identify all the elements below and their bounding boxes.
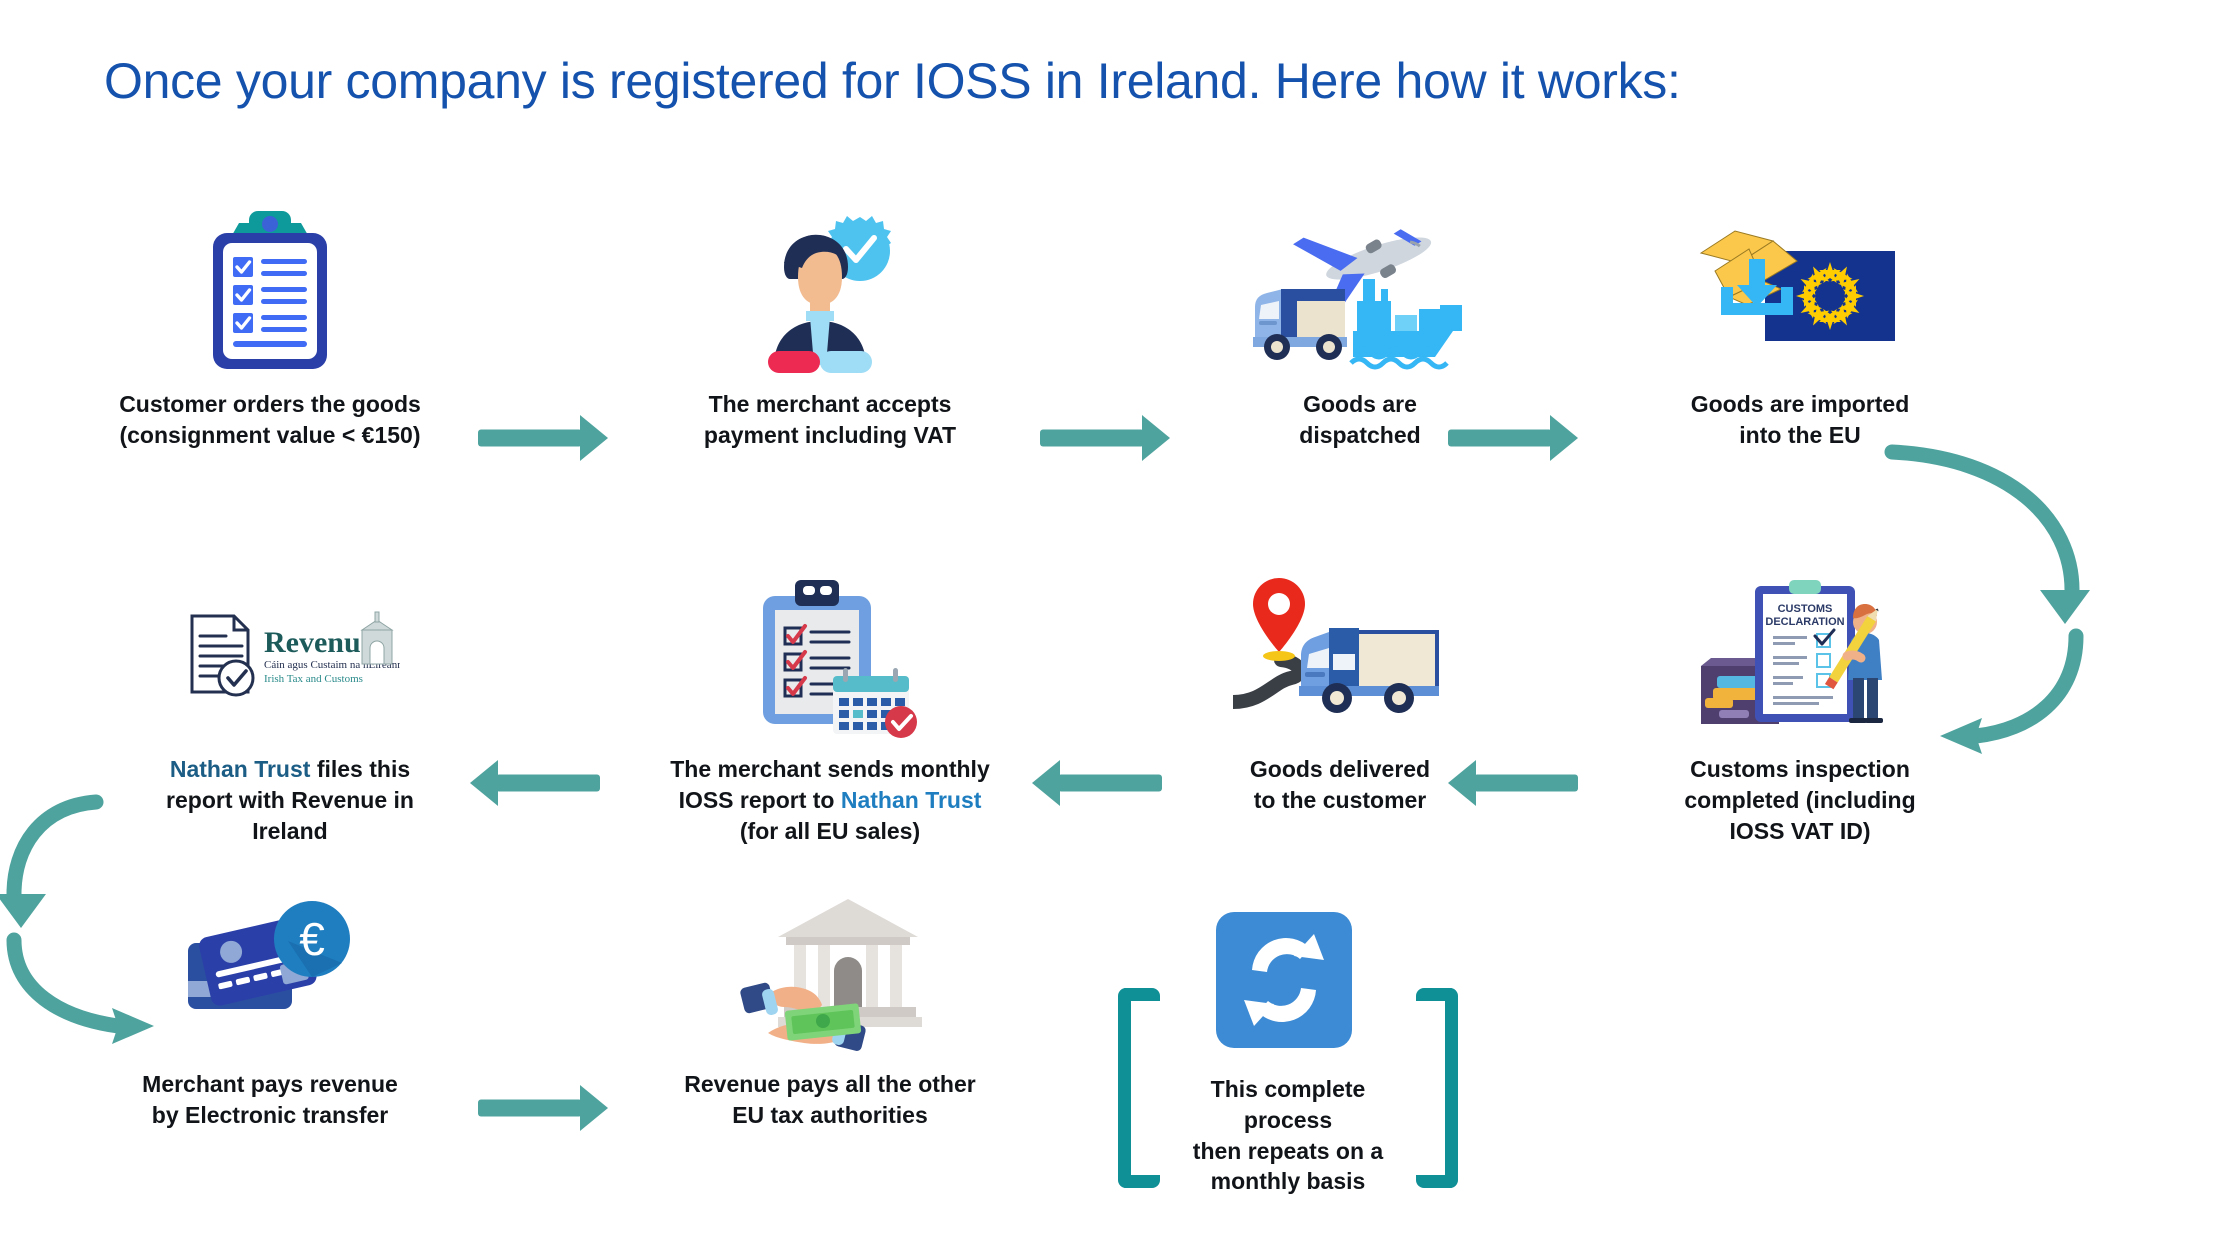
clipboard-calendar-icon [600,570,1060,740]
arrow-shaft [1448,430,1552,447]
bracket-right-icon [1416,988,1458,1188]
repeat-note-label: This complete process then repeats on a … [1168,1074,1408,1197]
bracket-left-icon [1118,988,1160,1188]
step-5-label: Customs inspection completed (including … [1560,754,2040,846]
step-5-customs-inspection: CUSTOMS DECLARATION [1560,570,2040,846]
repeat-note-block: This complete process then repeats on a … [1118,988,1458,1188]
eu-flag-import-box-icon [1560,205,2040,375]
arrow-step5-to-step6 [1448,760,1578,806]
revenue-logo-icon: Revenue Cáin agus Custaim na hÉireann Ir… [60,570,520,740]
arrow-step9-to-step10 [478,1085,608,1131]
euro-symbol: € [299,913,325,965]
arrow-shaft [478,1100,582,1117]
step-2-merchant-accepts-payment: The merchant accepts payment including V… [600,205,1060,451]
delivery-truck-pin-icon [1060,570,1620,740]
customs-title-line1: CUSTOMS [1778,603,1833,615]
step-10-revenue-pays-eu-authorities: Revenue pays all the other EU tax author… [600,885,1060,1131]
arrow-shaft [478,430,582,447]
customs-declaration-icon: CUSTOMS DECLARATION [1560,570,2040,740]
arrow-step3-to-step4 [1448,415,1578,461]
nathan-trust-brand: Nathan Trust [170,756,311,782]
arrow-head [1448,760,1476,806]
step-9-merchant-pays-revenue: € Merchant pays revenue by Electronic tr… [40,885,500,1131]
revenue-tagline-english: Irish Tax and Customs [264,673,363,685]
step-7-merchant-sends-monthly-report: The merchant sends monthly IOSS report t… [600,570,1060,846]
step-1-customer-orders: Customer orders the goods (consignment v… [40,205,500,451]
step-4-label: Goods are imported into the EU [1560,389,2040,451]
infographic-canvas: Once your company is registered for IOSS… [0,0,2240,1260]
bank-cash-hands-icon [600,885,1060,1055]
arrow-step7-to-step8 [470,760,600,806]
clipboard-checklist-icon [40,205,500,375]
page-title: Once your company is registered for IOSS… [104,52,2104,110]
step-10-label: Revenue pays all the other EU tax author… [600,1069,1060,1131]
nathan-trust-brand: Nathan Trust [841,787,982,813]
arrow-head [1032,760,1060,806]
arrow-step1-to-step2 [478,415,608,461]
step-8-nathan-trust-files-report: Revenue Cáin agus Custaim na hÉireann Ir… [60,570,520,846]
euro-cards-icon: € [40,885,500,1055]
verified-merchant-icon [600,205,1060,375]
arrow-head [470,760,498,806]
revenue-wordmark: Revenue [264,626,374,659]
arrow-shaft [496,775,600,792]
step-9-label: Merchant pays revenue by Electronic tran… [40,1069,500,1131]
step-1-label: Customer orders the goods (consignment v… [40,389,500,451]
step-4-goods-imported-eu: Goods are imported into the EU [1560,205,2040,451]
step-7-label: The merchant sends monthly IOSS report t… [600,754,1060,846]
step-2-label: The merchant accepts payment including V… [600,389,1060,451]
customs-title-line2: DECLARATION [1765,616,1844,628]
step-8-label: Nathan Trust files this report with Reve… [60,754,520,846]
